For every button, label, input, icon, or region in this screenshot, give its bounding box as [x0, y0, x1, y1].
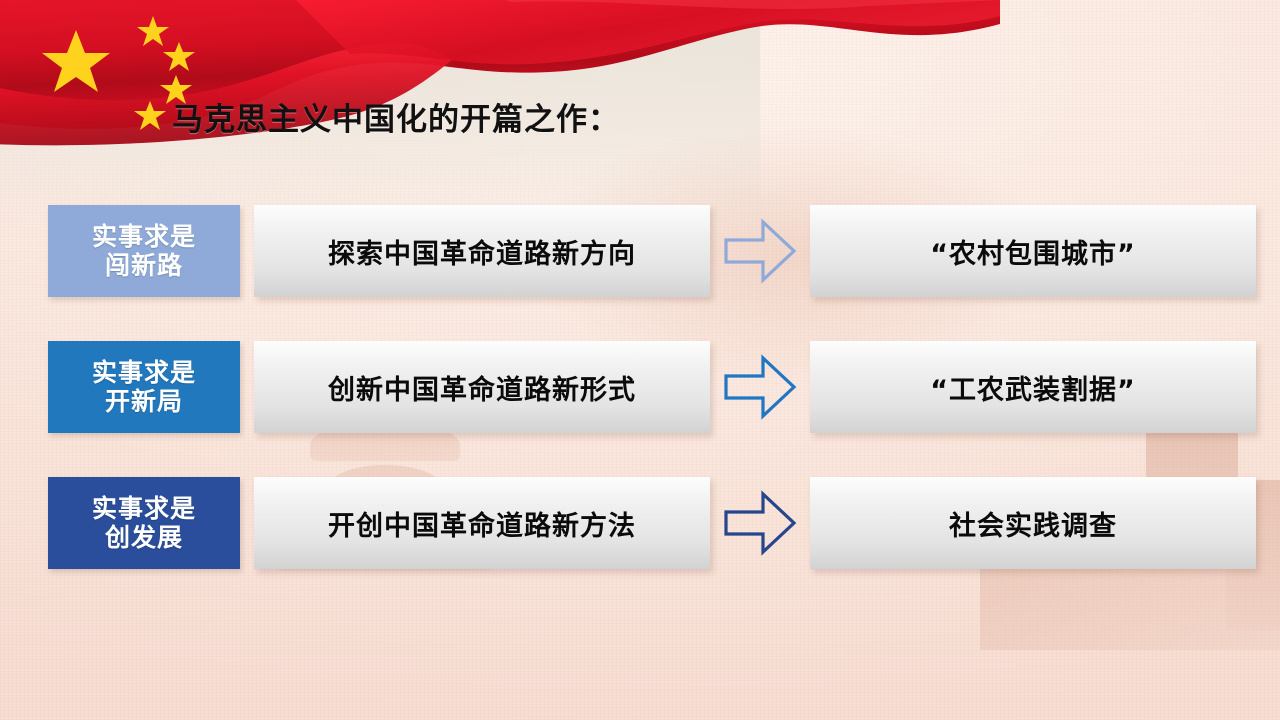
- slide-canvas: 马克思主义中国化的开篇之作： 实事求是 闯新路 探索中国革命道路新方向 “农村包…: [0, 0, 1280, 720]
- row-middle-box-3[interactable]: 开创中国革命道路新方法: [254, 477, 710, 569]
- row-arrow-cell-1: [710, 205, 810, 297]
- row-label-line1: 实事求是: [92, 222, 196, 252]
- table-row: 实事求是 闯新路 探索中国革命道路新方向 “农村包围城市”: [48, 205, 1256, 297]
- row-label-box-2[interactable]: 实事求是 开新局: [48, 341, 240, 433]
- row-label-box-3[interactable]: 实事求是 创发展: [48, 477, 240, 569]
- table-row: 实事求是 创发展 开创中国革命道路新方法 社会实践调查: [48, 477, 1256, 569]
- right-arrow-icon: [723, 354, 797, 420]
- row-result-box-3[interactable]: 社会实践调查: [810, 477, 1256, 569]
- row-arrow-cell-3: [710, 477, 810, 569]
- row-label-line1: 实事求是: [92, 494, 196, 524]
- row-label-line2: 闯新路: [105, 251, 183, 281]
- row-middle-box-2[interactable]: 创新中国革命道路新形式: [254, 341, 710, 433]
- content-rows: 实事求是 闯新路 探索中国革命道路新方向 “农村包围城市” 实事求是 开新局 创…: [0, 0, 1280, 720]
- row-label-line2: 创发展: [105, 523, 183, 553]
- row-label-box-1[interactable]: 实事求是 闯新路: [48, 205, 240, 297]
- row-middle-box-1[interactable]: 探索中国革命道路新方向: [254, 205, 710, 297]
- row-arrow-cell-2: [710, 341, 810, 433]
- row-result-box-1[interactable]: “农村包围城市”: [810, 205, 1256, 297]
- row-label-line1: 实事求是: [92, 358, 196, 388]
- row-label-line2: 开新局: [105, 387, 183, 417]
- right-arrow-icon: [723, 218, 797, 284]
- table-row: 实事求是 开新局 创新中国革命道路新形式 “工农武装割据”: [48, 341, 1256, 433]
- row-result-box-2[interactable]: “工农武装割据”: [810, 341, 1256, 433]
- right-arrow-icon: [723, 490, 797, 556]
